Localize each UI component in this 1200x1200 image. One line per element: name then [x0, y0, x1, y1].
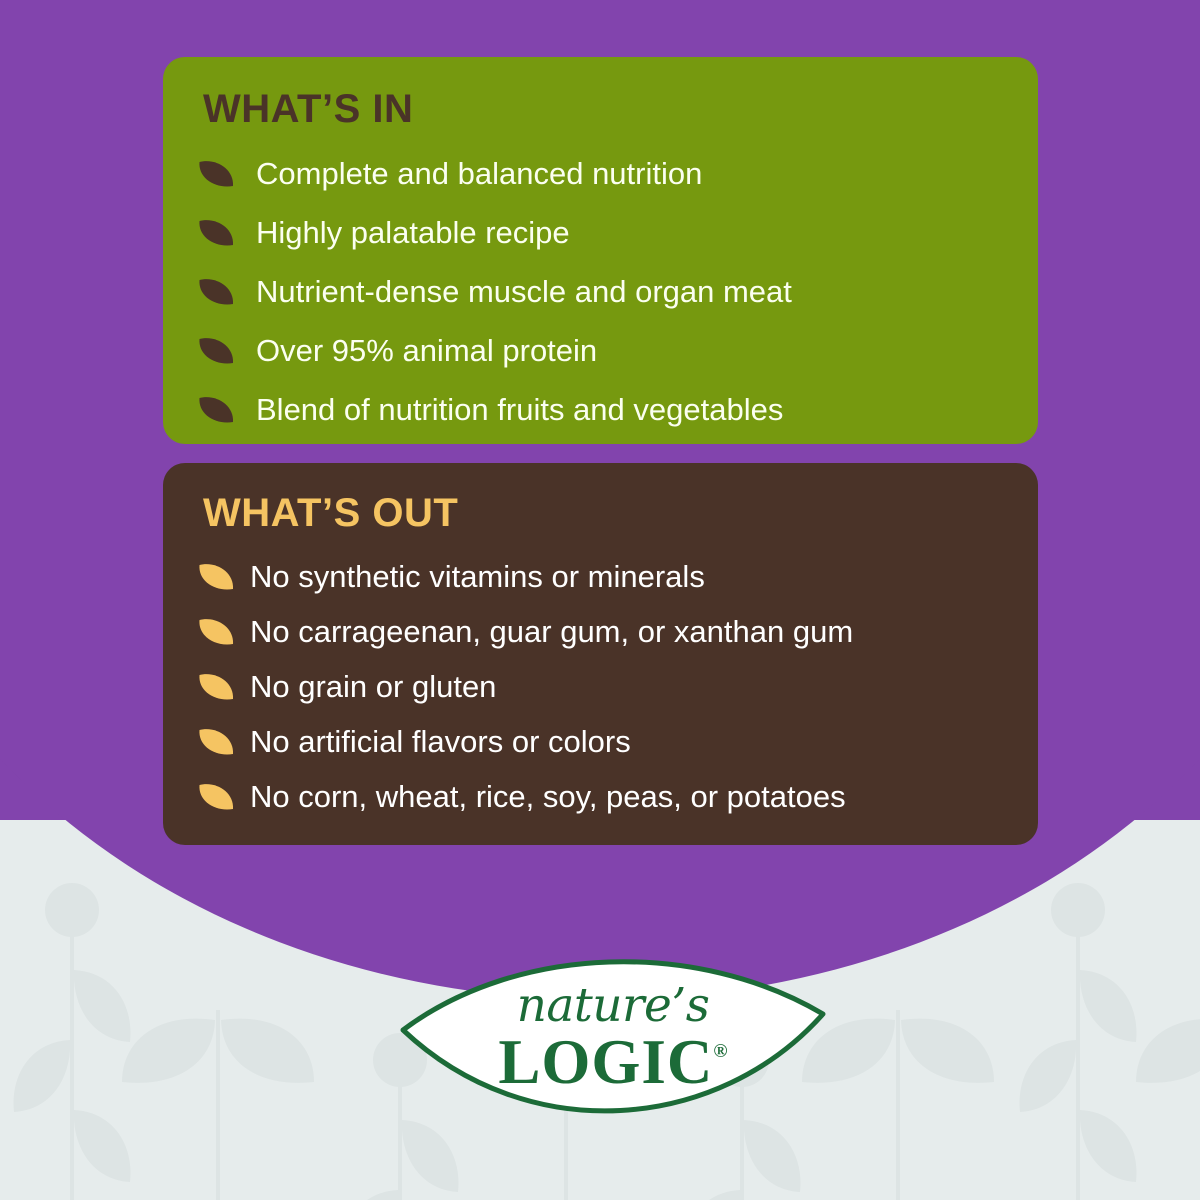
whats-out-card: WHAT’S OUT No synthetic vitamins or mine…	[163, 463, 1038, 845]
list-item-label: No synthetic vitamins or minerals	[250, 559, 705, 595]
list-item: Complete and balanced nutrition	[196, 147, 998, 200]
list-item-label: Nutrient-dense muscle and organ meat	[256, 274, 792, 310]
promo-graphic: WHAT’S IN Complete and balanced nutritio…	[0, 0, 1200, 1200]
whats-in-list: Complete and balanced nutrition Highly p…	[196, 147, 998, 436]
list-item: No grain or gluten	[196, 661, 998, 713]
list-item-label: Blend of nutrition fruits and vegetables	[256, 392, 783, 428]
brand-logo: nature’s LOGIC®	[398, 952, 828, 1144]
leaf-icon	[196, 616, 236, 648]
list-item-label: Over 95% animal protein	[256, 333, 597, 369]
whats-in-card: WHAT’S IN Complete and balanced nutritio…	[163, 57, 1038, 444]
leaf-icon	[196, 158, 236, 190]
list-item-label: No corn, wheat, rice, soy, peas, or pota…	[250, 779, 846, 815]
list-item: Over 95% animal protein	[196, 324, 998, 377]
leaf-icon	[196, 671, 236, 703]
list-item-label: Highly palatable recipe	[256, 215, 570, 251]
leaf-icon	[196, 726, 236, 758]
list-item-label: No grain or gluten	[250, 669, 496, 705]
leaf-icon	[196, 217, 236, 249]
list-item-label: Complete and balanced nutrition	[256, 156, 702, 192]
whats-out-list: No synthetic vitamins or minerals No car…	[196, 551, 998, 823]
list-item: Highly palatable recipe	[196, 206, 998, 259]
leaf-icon	[196, 561, 236, 593]
list-item-label: No artificial flavors or colors	[250, 724, 631, 760]
list-item: No corn, wheat, rice, soy, peas, or pota…	[196, 771, 998, 823]
leaf-icon	[196, 781, 236, 813]
whats-out-title: WHAT’S OUT	[203, 491, 998, 535]
leaf-icon	[196, 276, 236, 308]
list-item-label: No carrageenan, guar gum, or xanthan gum	[250, 614, 853, 650]
leaf-badge-icon	[398, 952, 828, 1144]
list-item: Blend of nutrition fruits and vegetables	[196, 383, 998, 436]
list-item: No artificial flavors or colors	[196, 716, 998, 768]
list-item: No synthetic vitamins or minerals	[196, 551, 998, 603]
leaf-icon	[196, 394, 236, 426]
list-item: Nutrient-dense muscle and organ meat	[196, 265, 998, 318]
leaf-icon	[196, 335, 236, 367]
whats-in-title: WHAT’S IN	[203, 87, 998, 131]
list-item: No carrageenan, guar gum, or xanthan gum	[196, 606, 998, 658]
